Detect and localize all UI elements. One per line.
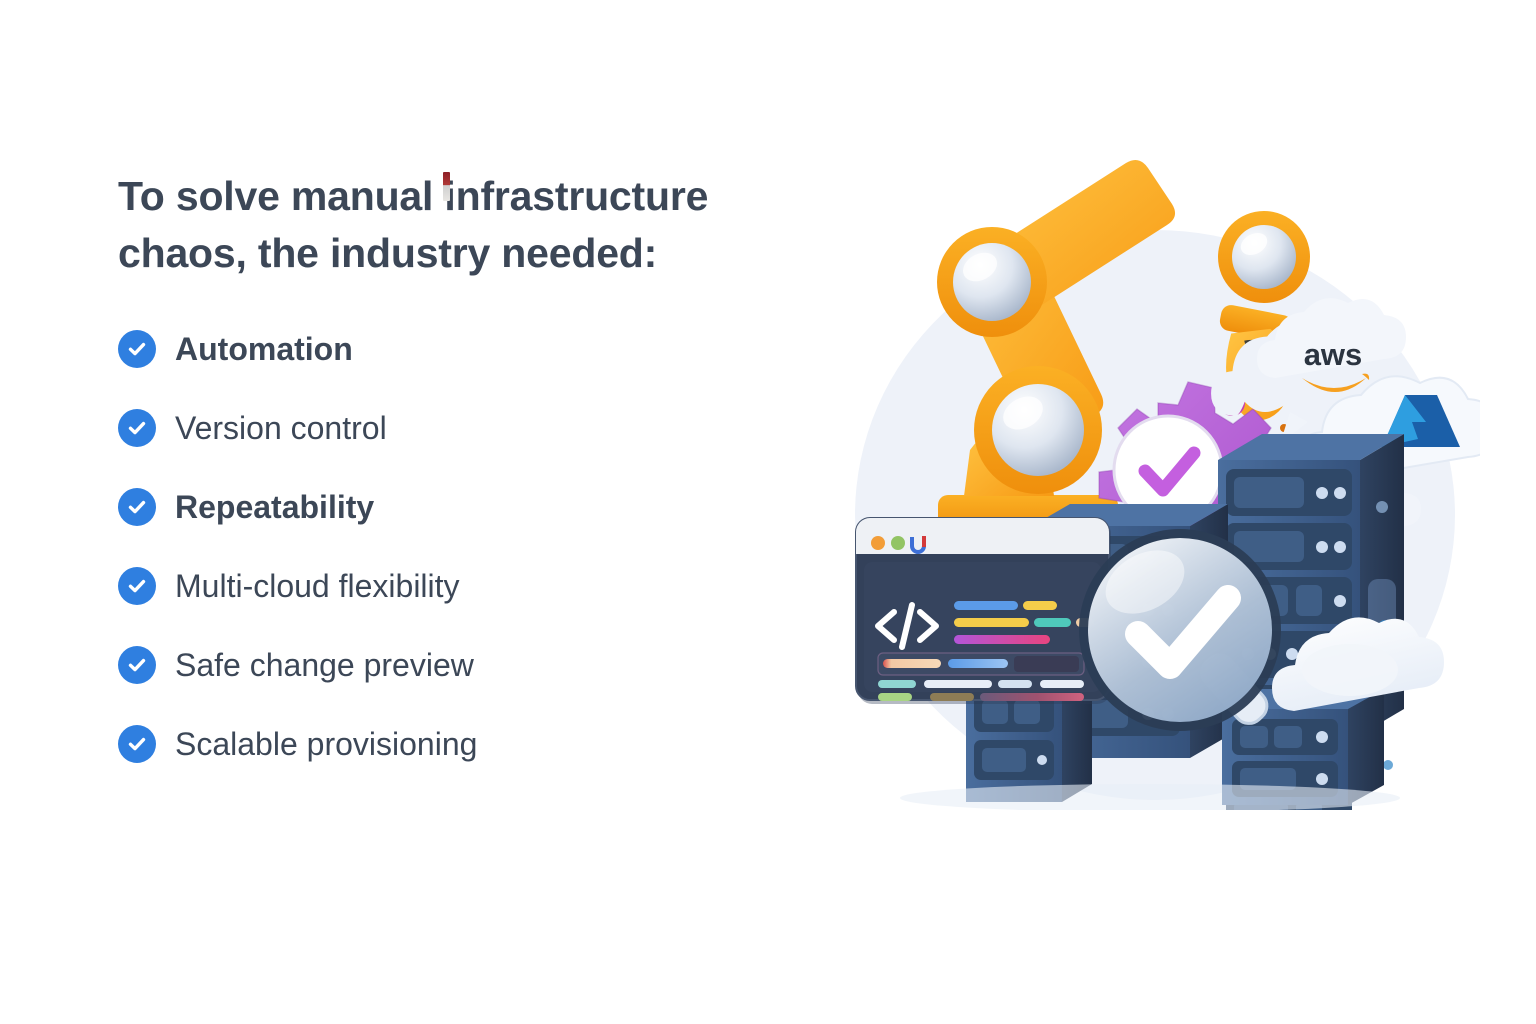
list-item: Multi-cloud flexibility xyxy=(118,564,818,608)
check-circle-icon xyxy=(118,488,156,526)
window-dot-orange xyxy=(871,536,885,550)
list-item-label: Automation xyxy=(175,333,353,365)
aws-logo-text: aws xyxy=(1304,337,1363,372)
list-item-label: Scalable provisioning xyxy=(175,728,477,760)
list-item-label: Safe change preview xyxy=(175,649,474,681)
check-circle-icon xyxy=(118,646,156,684)
headline-glitch-char: i xyxy=(444,168,455,225)
check-circle-icon xyxy=(118,330,156,368)
list-item: Scalable provisioning xyxy=(118,722,818,766)
page-title: To solve manual infrastructure chaos, th… xyxy=(118,168,798,281)
check-circle-icon xyxy=(118,567,156,605)
list-item-label: Version control xyxy=(175,412,387,444)
list-item: Safe change preview xyxy=(118,643,818,687)
iac-illustration: aws xyxy=(820,150,1480,810)
magnifier-check-icon xyxy=(1079,529,1281,731)
code-editor-window[interactable] xyxy=(856,518,1111,704)
list-item: Automation xyxy=(118,327,818,371)
check-circle-icon xyxy=(118,409,156,447)
headline-line2: chaos, the industry needed: xyxy=(118,230,657,276)
list-item: Repeatability xyxy=(118,485,818,529)
requirements-checklist: Automation Version control Repeatability… xyxy=(118,327,818,766)
window-dot-green xyxy=(891,536,905,550)
list-item-label: Multi-cloud flexibility xyxy=(175,570,460,602)
check-circle-icon xyxy=(118,725,156,763)
text-column: To solve manual infrastructure chaos, th… xyxy=(118,168,818,801)
headline-line1-post: nfrastructure xyxy=(456,173,709,219)
list-item: Version control xyxy=(118,406,818,450)
list-item-label: Repeatability xyxy=(175,491,374,523)
headline-line1-pre: To solve manual xyxy=(118,173,444,219)
slide-root: To solve manual infrastructure chaos, th… xyxy=(0,0,1536,1024)
